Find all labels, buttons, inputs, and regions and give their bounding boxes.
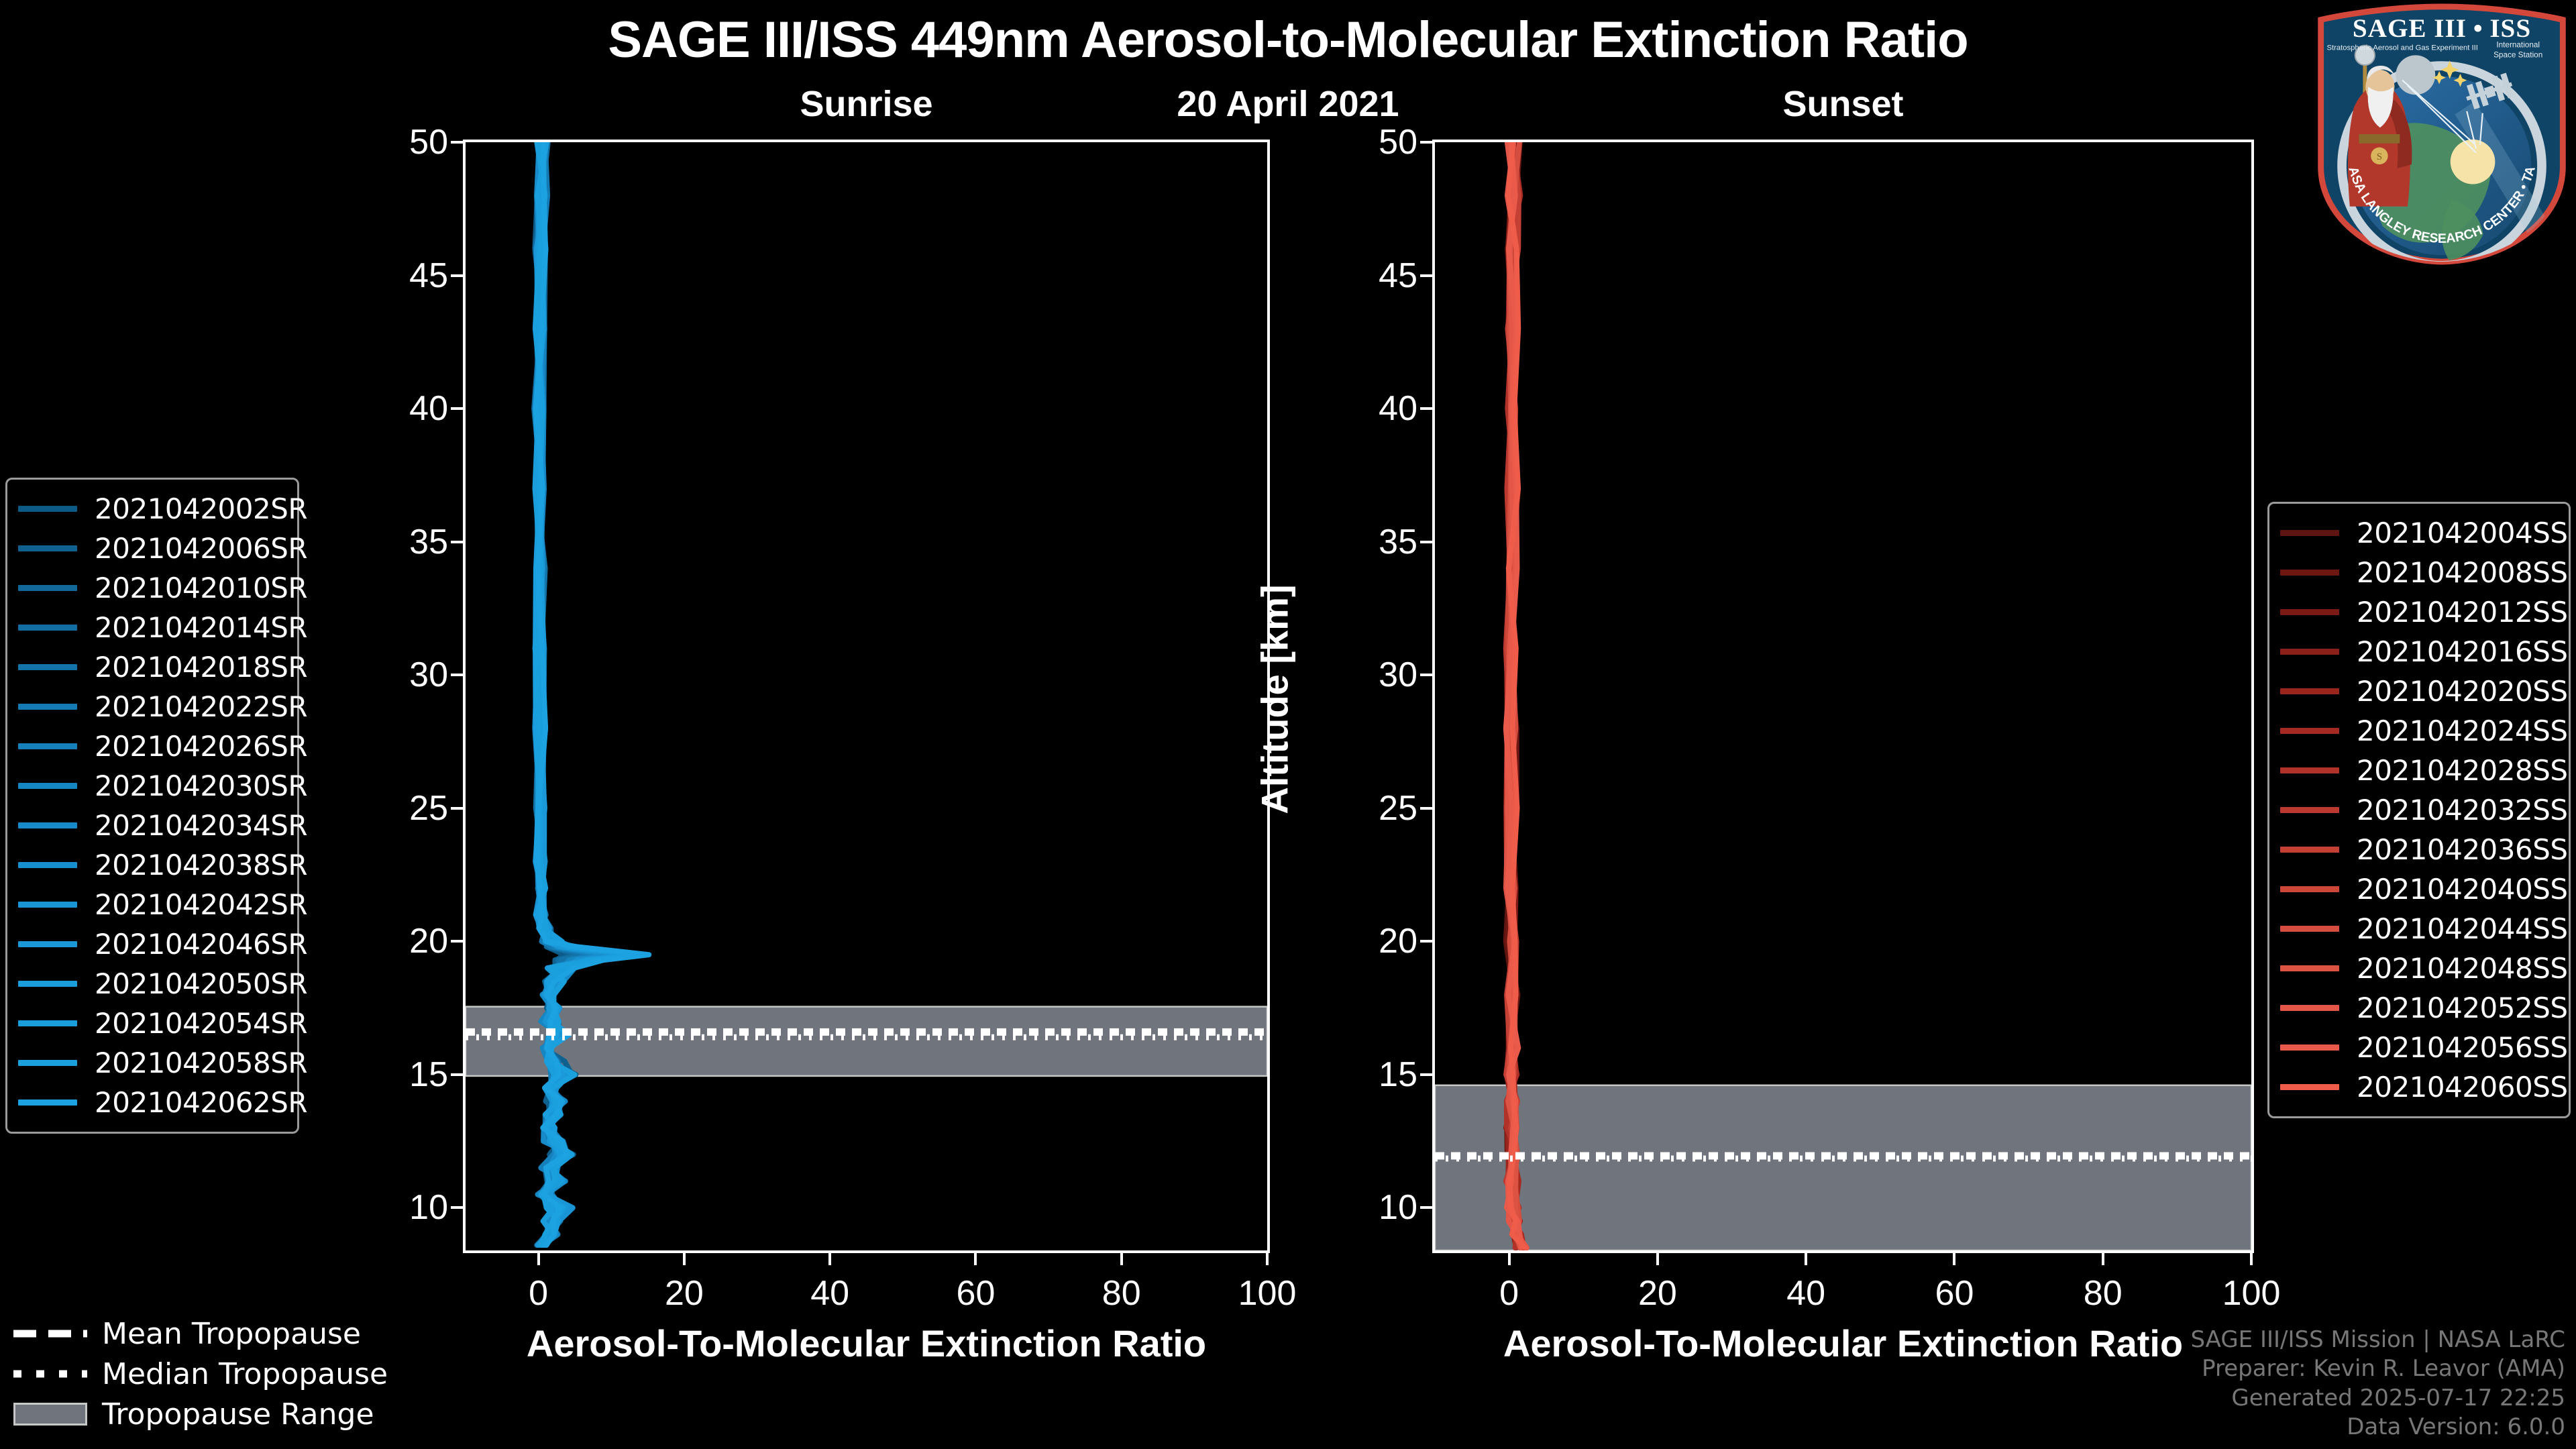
- sunset-series-svg: [1435, 142, 2251, 1250]
- legend-color-swatch: [18, 704, 77, 710]
- legend-item-label: 2021042050SR: [95, 967, 307, 1000]
- y-tick-mark: [1420, 407, 1435, 410]
- x-tick-mark: [683, 1250, 686, 1265]
- legend-item-label: 2021042056SS: [2357, 1031, 2568, 1064]
- legend-item-2021042038SR[interactable]: 2021042038SR: [18, 845, 282, 885]
- legend-item-2021042042SR[interactable]: 2021042042SR: [18, 885, 282, 924]
- legend-color-swatch: [2280, 688, 2339, 694]
- dotted-line-icon: [13, 1362, 87, 1385]
- patch-subtitle-right-2: Space Station: [2493, 50, 2542, 59]
- sunrise-plot-canvas: [466, 142, 1267, 1250]
- legend-color-swatch: [18, 941, 77, 947]
- legend-color-swatch: [18, 664, 77, 670]
- legend-color-swatch: [18, 545, 77, 551]
- sage3-iss-mission-patch-logo: S SAGE III•ISS Stratospheric Aerosol and…: [2310, 3, 2573, 266]
- legend-item-2021042058SR[interactable]: 2021042058SR: [18, 1043, 282, 1083]
- legend-item-label: 2021042046SR: [95, 928, 307, 961]
- page-title: SAGE III/ISS 449nm Aerosol-to-Molecular …: [0, 15, 2576, 66]
- sunrise-series-legend[interactable]: 2021042002SR2021042006SR2021042010SR2021…: [5, 478, 299, 1134]
- legend-item-label: 2021042018SR: [95, 651, 307, 684]
- sunset-plot-area: 101520253035404550 020406080100: [1432, 140, 2254, 1253]
- patch-subtitle-right-1: International: [2496, 41, 2540, 50]
- credit-line-preparer: Preparer: Kevin R. Leavor (AMA): [2190, 1354, 2565, 1384]
- y-tick-label: 50: [301, 122, 466, 162]
- legend-color-swatch: [2280, 767, 2339, 773]
- legend-item-2021042044SS[interactable]: 2021042044SS: [2280, 909, 2554, 949]
- y-tick-mark: [451, 141, 466, 144]
- legend-color-swatch: [18, 585, 77, 591]
- legend-item-label: 2021042016SS: [2357, 635, 2568, 668]
- y-tick-label: 10: [301, 1187, 466, 1228]
- legend-label-median-tropopause: Median Tropopause: [102, 1357, 388, 1391]
- credit-line-generated: Generated 2025-07-17 22:25: [2190, 1384, 2565, 1413]
- y-tick-mark: [451, 541, 466, 543]
- legend-item-label: 2021042014SR: [95, 611, 307, 644]
- y-tick-mark: [1420, 1073, 1435, 1076]
- legend-item-label: 2021042022SR: [95, 690, 307, 723]
- legend-color-swatch: [2280, 570, 2339, 576]
- legend-color-swatch: [2280, 649, 2339, 655]
- sunset-x-axis-label: Aerosol-To-Molecular Extinction Ratio: [1432, 1325, 2254, 1362]
- legend-item-2021042010SR[interactable]: 2021042010SR: [18, 568, 282, 608]
- legend-item-label: 2021042024SS: [2357, 714, 2568, 747]
- legend-item-label: 2021042058SR: [95, 1046, 307, 1079]
- legend-item-2021042018SR[interactable]: 2021042018SR: [18, 647, 282, 687]
- legend-item-2021042048SS[interactable]: 2021042048SS: [2280, 949, 2554, 988]
- legend-color-swatch: [18, 625, 77, 631]
- legend-item-label: 2021042028SS: [2357, 754, 2568, 787]
- x-tick-mark: [537, 1250, 540, 1265]
- legend-color-swatch: [2280, 1044, 2339, 1051]
- legend-color-swatch: [2280, 728, 2339, 734]
- y-tick-label: 45: [301, 256, 466, 296]
- legend-item-2021042062SR[interactable]: 2021042062SR: [18, 1083, 282, 1122]
- legend-item-label: 2021042042SR: [95, 888, 307, 921]
- y-tick-label: 10: [1270, 1187, 1435, 1228]
- legend-item-label: 2021042026SR: [95, 730, 307, 763]
- legend-item-label: 2021042062SR: [95, 1086, 307, 1119]
- y-tick-mark: [451, 674, 466, 676]
- legend-color-swatch: [2280, 847, 2339, 853]
- legend-item-2021042008SS[interactable]: 2021042008SS: [2280, 553, 2554, 592]
- y-tick-label: 40: [301, 388, 466, 429]
- y-tick-mark: [451, 1073, 466, 1076]
- legend-color-swatch: [18, 981, 77, 987]
- legend-color-swatch: [2280, 530, 2339, 536]
- legend-item-label: 2021042052SS: [2357, 991, 2568, 1024]
- y-tick-mark: [451, 407, 466, 410]
- legend-item-2021042040SS[interactable]: 2021042040SS: [2280, 869, 2554, 909]
- legend-item-label: 2021042040SS: [2357, 873, 2568, 906]
- legend-item-median-tropopause: Median Tropopause: [13, 1354, 362, 1394]
- range-box-icon: [13, 1403, 87, 1426]
- legend-item-2021042026SR[interactable]: 2021042026SR: [18, 727, 282, 766]
- sunset-series-legend[interactable]: 2021042004SS2021042008SS2021042012SS2021…: [2267, 502, 2571, 1118]
- legend-item-label: 2021042054SR: [95, 1007, 307, 1040]
- y-tick-label: 15: [1270, 1055, 1435, 1095]
- y-tick-mark: [451, 807, 466, 810]
- svg-text:S: S: [2377, 152, 2382, 162]
- legend-item-2021042050SR[interactable]: 2021042050SR: [18, 964, 282, 1004]
- x-tick-mark: [1656, 1250, 1659, 1265]
- legend-item-label: 2021042034SR: [95, 809, 307, 842]
- legend-label-tropopause-range: Tropopause Range: [102, 1397, 374, 1432]
- legend-item-tropopause-range: Tropopause Range: [13, 1394, 362, 1434]
- x-tick-mark: [1266, 1250, 1269, 1265]
- legend-color-swatch: [2280, 609, 2339, 615]
- legend-color-swatch: [18, 822, 77, 828]
- patch-subtitle-left: Stratospheric Aerosol and Gas Experiment…: [2326, 44, 2477, 52]
- legend-color-swatch: [18, 902, 77, 908]
- legend-item-2021042054SR[interactable]: 2021042054SR: [18, 1004, 282, 1043]
- legend-item-label: 2021042032SS: [2357, 794, 2568, 826]
- series-line: [536, 142, 649, 1245]
- legend-item-label: 2021042008SS: [2357, 556, 2568, 589]
- legend-color-swatch: [2280, 807, 2339, 813]
- legend-item-2021042030SR[interactable]: 2021042030SR: [18, 766, 282, 806]
- y-tick-label: 35: [301, 522, 466, 562]
- legend-color-swatch: [18, 743, 77, 749]
- legend-item-label: 2021042036SS: [2357, 833, 2568, 866]
- legend-item-2021042014SR[interactable]: 2021042014SR: [18, 608, 282, 647]
- sunrise-series-svg: [466, 142, 1267, 1250]
- x-tick-mark: [2102, 1250, 2104, 1265]
- x-tick-mark: [2250, 1250, 2253, 1265]
- legend-color-swatch: [18, 1060, 77, 1066]
- y-tick-label: 15: [301, 1055, 466, 1095]
- x-tick-mark: [1953, 1250, 1955, 1265]
- y-tick-mark: [1420, 940, 1435, 943]
- legend-item-label: 2021042020SS: [2357, 675, 2568, 708]
- y-tick-mark: [1420, 541, 1435, 543]
- tropopause-legend: Mean Tropopause Median Tropopause Tropop…: [13, 1313, 362, 1434]
- legend-item-2021042002SR[interactable]: 2021042002SR: [18, 489, 282, 529]
- y-tick-mark: [1420, 1206, 1435, 1209]
- credit-line-data-version: Data Version: 6.0.0: [2190, 1413, 2565, 1442]
- legend-item-2021042020SS[interactable]: 2021042020SS: [2280, 672, 2554, 711]
- legend-item-label: 2021042006SR: [95, 532, 307, 565]
- legend-color-swatch: [2280, 1005, 2339, 1011]
- legend-label-mean-tropopause: Mean Tropopause: [102, 1317, 361, 1351]
- patch-title: SAGE III•ISS: [2353, 14, 2531, 43]
- sunset-plot-canvas: [1435, 142, 2251, 1250]
- y-tick-label: 25: [301, 788, 466, 828]
- legend-color-swatch: [2280, 965, 2339, 971]
- y-tick-mark: [451, 1206, 466, 1209]
- legend-item-2021042016SS[interactable]: 2021042016SS: [2280, 632, 2554, 672]
- legend-item-label: 2021042030SR: [95, 769, 307, 802]
- legend-item-2021042060SS[interactable]: 2021042060SS: [2280, 1067, 2554, 1107]
- legend-item-2021042052SS[interactable]: 2021042052SS: [2280, 988, 2554, 1028]
- y-tick-mark: [451, 940, 466, 943]
- legend-color-swatch: [18, 783, 77, 789]
- tropopause-range-band: [1435, 1085, 2251, 1250]
- legend-item-2021042036SS[interactable]: 2021042036SS: [2280, 830, 2554, 869]
- legend-item-label: 2021042010SR: [95, 572, 307, 604]
- legend-item-2021042046SR[interactable]: 2021042046SR: [18, 924, 282, 964]
- legend-item-2021042004SS[interactable]: 2021042004SS: [2280, 513, 2554, 553]
- credits-block: SAGE III/ISS Mission | NASA LaRC Prepare…: [2190, 1326, 2565, 1442]
- legend-color-swatch: [18, 1099, 77, 1106]
- y-tick-label: 20: [1270, 921, 1435, 961]
- sunrise-plot-area: 101520253035404550 020406080100: [463, 140, 1270, 1253]
- y-tick-label: 40: [1270, 388, 1435, 429]
- legend-item-label: 2021042048SS: [2357, 952, 2568, 985]
- x-tick-mark: [1805, 1250, 1807, 1265]
- legend-item-label: 2021042060SS: [2357, 1071, 2568, 1104]
- legend-color-swatch: [2280, 1084, 2339, 1090]
- legend-item-2021042006SR[interactable]: 2021042006SR: [18, 529, 282, 568]
- y-tick-mark: [1420, 807, 1435, 810]
- legend-item-label: 2021042002SR: [95, 492, 307, 525]
- legend-item-2021042028SS[interactable]: 2021042028SS: [2280, 751, 2554, 790]
- legend-item-label: 2021042044SS: [2357, 912, 2568, 945]
- credit-line-mission: SAGE III/ISS Mission | NASA LaRC: [2190, 1326, 2565, 1355]
- tropopause-range-band: [466, 1007, 1267, 1076]
- legend-item-2021042034SR[interactable]: 2021042034SR: [18, 806, 282, 845]
- x-tick-mark: [974, 1250, 977, 1265]
- x-tick-mark: [1508, 1250, 1511, 1265]
- y-tick-mark: [1420, 141, 1435, 144]
- dashed-line-icon: [13, 1322, 87, 1345]
- y-tick-label: 35: [1270, 522, 1435, 562]
- legend-color-swatch: [2280, 926, 2339, 932]
- y-tick-mark: [1420, 674, 1435, 676]
- y-tick-mark: [1420, 274, 1435, 277]
- legend-item-label: 2021042004SS: [2357, 517, 2568, 549]
- x-tick-mark: [828, 1250, 831, 1265]
- legend-item-2021042022SR[interactable]: 2021042022SR: [18, 687, 282, 727]
- legend-item-label: 2021042012SS: [2357, 596, 2568, 629]
- sunset-panel-title: Sunset: [1432, 86, 2254, 122]
- legend-item-2021042024SS[interactable]: 2021042024SS: [2280, 711, 2554, 751]
- legend-item-2021042012SS[interactable]: 2021042012SS: [2280, 592, 2554, 632]
- legend-color-swatch: [18, 1020, 77, 1026]
- y-tick-mark: [451, 274, 466, 277]
- x-tick-mark: [1120, 1250, 1123, 1265]
- legend-color-swatch: [18, 862, 77, 868]
- sunrise-x-axis-label: Aerosol-To-Molecular Extinction Ratio: [463, 1325, 1270, 1362]
- y-tick-label: 50: [1270, 122, 1435, 162]
- y-tick-label: 30: [301, 655, 466, 695]
- y-tick-label: 45: [1270, 256, 1435, 296]
- legend-item-2021042056SS[interactable]: 2021042056SS: [2280, 1028, 2554, 1067]
- legend-color-swatch: [2280, 886, 2339, 892]
- legend-color-swatch: [18, 506, 77, 512]
- legend-item-label: 2021042038SR: [95, 849, 307, 881]
- legend-item-2021042032SS[interactable]: 2021042032SS: [2280, 790, 2554, 830]
- y-tick-label: 20: [301, 921, 466, 961]
- sunset-y-axis-label: Altitude [km]: [1253, 566, 1297, 834]
- legend-item-mean-tropopause: Mean Tropopause: [13, 1313, 362, 1354]
